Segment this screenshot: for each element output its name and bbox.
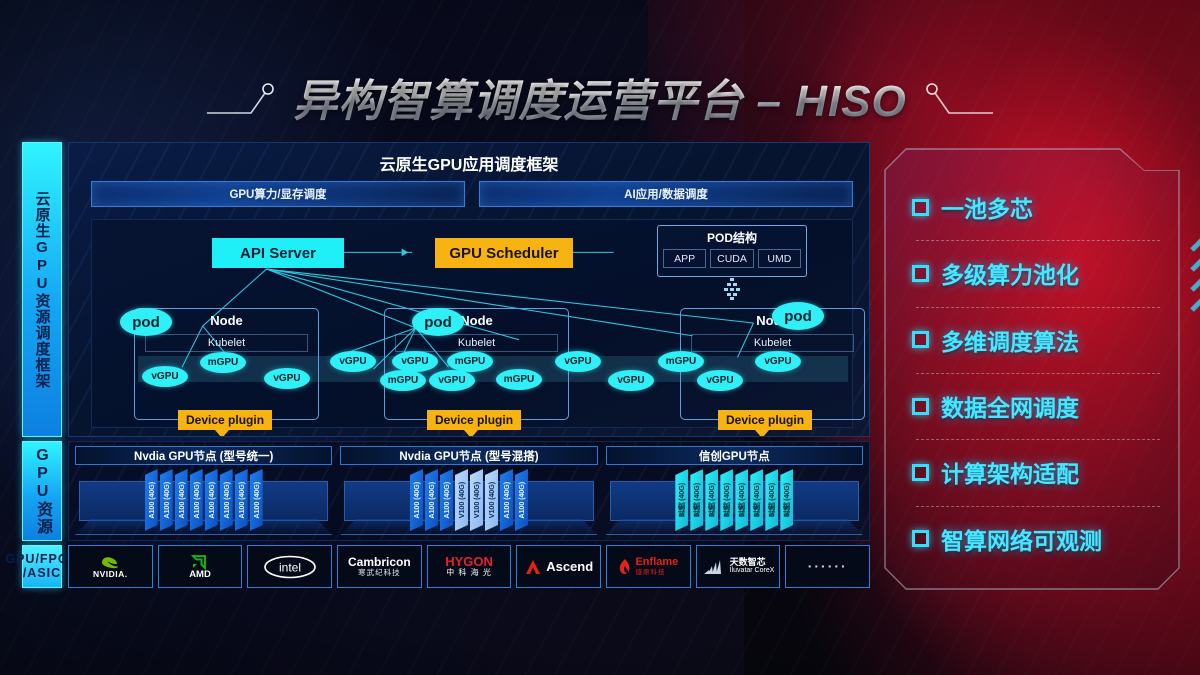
gpu-card-label: 昇腾 (40G)	[691, 483, 702, 517]
checkbox-square-icon	[912, 265, 929, 282]
gpu-card[interactable]: A100 (40G)	[250, 469, 263, 531]
gpu-card[interactable]: A100 (40G)	[500, 469, 513, 531]
vendor-ascend[interactable]: Ascend	[516, 545, 601, 588]
gpu-resource-panel: Nvdia GPU节点 (型号统一) A100 (40G) A100 (40G)…	[68, 441, 870, 541]
gpu-card[interactable]: A100 (40G)	[440, 469, 453, 531]
pod-cell-umd: UMD	[758, 249, 801, 268]
device-plugin-arrow-2	[464, 430, 478, 437]
vgpu-ellipse[interactable]: vGPU	[142, 366, 188, 387]
gpu-group-title: Nvdia GPU节点 (型号混搭)	[340, 446, 597, 465]
feature-item-6[interactable]: 智算网络可观测	[912, 506, 1166, 572]
gpu-card-label: A100 (40G)	[192, 482, 201, 519]
feature-label: 智算网络可观测	[941, 522, 1102, 556]
subbar-ai-app[interactable]: AI应用/数据调度	[479, 181, 853, 207]
gpu-card[interactable]: A100 (40G)	[410, 469, 423, 531]
vendor-name: 天数智芯	[730, 558, 766, 567]
mgpu-ellipse[interactable]: mGPU	[200, 352, 246, 373]
gpu-tray: A100 (40G) A100 (40G) A100 (40G) A100 (4…	[75, 469, 332, 535]
kubelet-bar: Kubelet	[145, 334, 308, 352]
gpu-card[interactable]: V100 (40G)	[485, 469, 498, 531]
intel-icon: intel	[263, 555, 317, 579]
gpu-card[interactable]: A100 (40G)	[190, 469, 203, 531]
device-plugin-3[interactable]: Device plugin	[718, 410, 812, 430]
gpu-tray: A100 (40G) A100 (40G) A100 (40G) V100 (4…	[340, 469, 597, 535]
gpu-card-label: V100 (40G)	[487, 482, 496, 518]
cloud-native-framework-panel: 云原生GPU应用调度框架 GPU算力/显存调度 AI应用/数据调度	[68, 142, 870, 437]
gpu-card-label: A100 (40G)	[517, 482, 526, 519]
vendor-cambricon[interactable]: Cambricon 寒武纪科技	[337, 545, 422, 588]
vendor-name: HYGON	[445, 555, 493, 569]
gpu-card-label: 昇腾 (40G)	[706, 483, 717, 517]
vgpu-ellipse[interactable]: vGPU	[697, 370, 743, 391]
gpu-card-label: A100 (40G)	[222, 482, 231, 519]
vendor-sub: 寒武纪科技	[358, 569, 401, 577]
gpu-card[interactable]: A100 (40G)	[235, 469, 248, 531]
vendor-sub: 燧原科技	[635, 569, 665, 576]
feature-item-1[interactable]: 一池多芯	[912, 174, 1166, 240]
vendor-name: Enflame	[635, 557, 678, 569]
architecture-diagram: 云原生GPU资源调度框架 GPU资源 GPU/FPGA /ASIC 云原生GPU…	[22, 142, 870, 604]
pod-structure-box: POD结构 APP CUDA UMD	[657, 225, 807, 277]
gpu-group-3: 信创GPU节点 昇腾 (40G) 昇腾 (40G) 昇腾 (40G) 昇腾 (4…	[606, 446, 863, 536]
vgpu-ellipse-outside[interactable]: vGPU	[608, 370, 654, 391]
diagram-main-column: 云原生GPU应用调度框架 GPU算力/显存调度 AI应用/数据调度	[62, 142, 870, 604]
feature-label: 多维调度算法	[941, 323, 1079, 357]
gpu-card-label: 昇腾 (40G)	[751, 483, 762, 517]
pod-cell-cuda: CUDA	[710, 249, 753, 268]
subbar-gpu-compute[interactable]: GPU算力/显存调度	[91, 181, 465, 207]
feature-label: 一池多芯	[941, 190, 1033, 224]
pod-ellipse-3[interactable]: pod	[772, 302, 824, 330]
gpu-card-list: A100 (40G) A100 (40G) A100 (40G) V100 (4…	[340, 469, 597, 531]
feature-label: 多级算力池化	[941, 256, 1079, 290]
gpu-group-title: Nvdia GPU节点 (型号统一)	[75, 446, 332, 465]
vendor-more[interactable]: ······	[785, 545, 870, 588]
vendor-hygon[interactable]: HYGON 中 科 海 光	[427, 545, 512, 588]
gpu-card[interactable]: V100 (40G)	[470, 469, 483, 531]
gpu-card-label: A100 (40G)	[502, 482, 511, 519]
vendor-row: Ascend	[524, 558, 593, 576]
vendor-amd[interactable]: AMD	[158, 545, 243, 588]
feature-item-3[interactable]: 多维调度算法	[912, 307, 1166, 373]
gpu-card[interactable]: 昇腾 (40G)	[750, 469, 763, 531]
gpu-card-label: A100 (40G)	[147, 482, 156, 519]
vendor-enflame[interactable]: Enflame 燧原科技	[606, 545, 691, 588]
vendor-row: Enflame 燧原科技	[618, 557, 678, 576]
gpu-card[interactable]: 昇腾 (40G)	[735, 469, 748, 531]
gpu-card[interactable]: A100 (40G)	[220, 469, 233, 531]
gpu-card-list: 昇腾 (40G) 昇腾 (40G) 昇腾 (40G) 昇腾 (40G) 昇腾 (…	[606, 469, 863, 531]
vgpu-ellipse-outside[interactable]: vGPU	[555, 351, 601, 372]
feature-list: 一池多芯 多级算力池化 多维调度算法 数据全网调度 计算架构适配 智算网络可观测	[912, 174, 1166, 572]
mgpu-ellipse[interactable]: mGPU	[658, 351, 704, 372]
vgpu-ellipse-outside[interactable]: vGPU	[330, 351, 376, 372]
checkbox-square-icon	[912, 199, 929, 216]
vertical-label-chips: GPU/FPGA /ASIC	[22, 545, 62, 588]
gpu-card-label: V100 (40G)	[457, 482, 466, 518]
gpu-card[interactable]: A100 (40G)	[175, 469, 188, 531]
gpu-card-label: 昇腾 (40G)	[736, 483, 747, 517]
mgpu-ellipse[interactable]: mGPU	[447, 351, 493, 372]
pod-structure-cells: APP CUDA UMD	[663, 249, 801, 268]
gpu-card-label: A100 (40G)	[207, 482, 216, 519]
gpu-card[interactable]: 昇腾 (40G)	[780, 469, 793, 531]
gpu-scheduler-box[interactable]: GPU Scheduler	[435, 238, 573, 268]
gpu-card-label: A100 (40G)	[237, 482, 246, 519]
gpu-card-label: V100 (40G)	[472, 482, 481, 518]
vendor-name: NVIDIA.	[93, 570, 128, 579]
feature-item-4[interactable]: 数据全网调度	[912, 373, 1166, 439]
gpu-group-title: 信创GPU节点	[606, 446, 863, 465]
vendor-logo-strip: NVIDIA. AMD intel Cambricon 寒武纪科技	[68, 545, 870, 588]
api-server-box[interactable]: API Server	[212, 238, 344, 268]
pod-ellipse-1[interactable]: pod	[120, 308, 172, 336]
iluvatar-icon	[702, 558, 726, 576]
kubelet-bar: Kubelet	[395, 334, 558, 352]
gpu-card[interactable]: 昇腾 (40G)	[720, 469, 733, 531]
feature-item-2[interactable]: 多级算力池化	[912, 240, 1166, 306]
feature-label: 计算架构适配	[941, 455, 1079, 489]
device-plugin-arrow-3	[755, 430, 769, 437]
vendor-name: ······	[808, 559, 848, 574]
vertical-label-gpu-resource: GPU资源	[22, 441, 62, 541]
gpu-card[interactable]: 昇腾 (40G)	[675, 469, 688, 531]
device-plugin-1[interactable]: Device plugin	[178, 410, 272, 430]
gpu-card[interactable]: A100 (40G)	[425, 469, 438, 531]
gpu-card[interactable]: 昇腾 (40G)	[765, 469, 778, 531]
vertical-label-column: 云原生GPU资源调度框架 GPU资源 GPU/FPGA /ASIC	[22, 142, 62, 604]
gpu-card-list: A100 (40G) A100 (40G) A100 (40G) A100 (4…	[75, 469, 332, 531]
vendor-row: 天数智芯 Iluvatar CoreX	[702, 558, 775, 576]
gpu-card[interactable]: A100 (40G)	[145, 469, 158, 531]
vendor-name: AMD	[189, 570, 211, 580]
gpu-card-label: 昇腾 (40G)	[781, 483, 792, 517]
pod-link-dots-icon	[722, 278, 742, 300]
amd-icon	[191, 554, 210, 570]
vgpu-ellipse[interactable]: vGPU	[429, 370, 475, 391]
pod-structure-title: POD结构	[663, 229, 801, 246]
gpu-card[interactable]: 昇腾 (40G)	[705, 469, 718, 531]
vendor-iluvatar[interactable]: 天数智芯 Iluvatar CoreX	[696, 545, 781, 588]
title-right-decoration	[923, 75, 993, 119]
gpu-card-label: 昇腾 (40G)	[676, 483, 687, 517]
pod-cell-app: APP	[663, 249, 706, 268]
vertical-label-framework: 云原生GPU资源调度框架	[22, 142, 62, 437]
device-plugin-2[interactable]: Device plugin	[427, 410, 521, 430]
kubelet-bar: Kubelet	[691, 334, 854, 352]
feature-item-5[interactable]: 计算架构适配	[912, 439, 1166, 505]
gpu-card[interactable]: A100 (40G)	[160, 469, 173, 531]
gpu-group-2: Nvdia GPU节点 (型号混搭) A100 (40G) A100 (40G)…	[340, 446, 597, 536]
gpu-card-label: A100 (40G)	[177, 482, 186, 519]
vgpu-ellipse[interactable]: vGPU	[392, 351, 438, 372]
gpu-card[interactable]: V100 (40G)	[455, 469, 468, 531]
gpu-card-label: A100 (40G)	[442, 482, 451, 519]
gpu-card[interactable]: A100 (40G)	[515, 469, 528, 531]
framework-inner-canvas: API Server GPU Scheduler POD结构 APP CUDA …	[91, 219, 853, 428]
framework-subbars: GPU算力/显存调度 AI应用/数据调度	[69, 181, 869, 207]
title-left-decoration	[207, 75, 277, 119]
framework-title: 云原生GPU应用调度框架	[69, 143, 869, 181]
checkbox-square-icon	[912, 530, 929, 547]
gpu-group-1: Nvdia GPU节点 (型号统一) A100 (40G) A100 (40G)…	[75, 446, 332, 536]
gpu-card-label: 昇腾 (40G)	[721, 483, 732, 517]
svg-text:intel: intel	[279, 560, 301, 574]
title-row: 异构智算调度运营平台 – HISO	[0, 62, 1200, 132]
gpu-card[interactable]: A100 (40G)	[205, 469, 218, 531]
vendor-nvidia[interactable]: NVIDIA.	[68, 545, 153, 588]
checkbox-square-icon	[912, 464, 929, 481]
mgpu-ellipse[interactable]: mGPU	[496, 369, 542, 390]
ascend-icon	[524, 558, 542, 576]
vendor-sub: Iluvatar CoreX	[730, 567, 775, 575]
vendor-name: Cambricon	[348, 556, 411, 569]
gpu-tray: 昇腾 (40G) 昇腾 (40G) 昇腾 (40G) 昇腾 (40G) 昇腾 (…	[606, 469, 863, 535]
gpu-card-label: A100 (40G)	[252, 482, 261, 519]
gpu-card-label: A100 (40G)	[427, 482, 436, 519]
feature-label: 数据全网调度	[941, 389, 1079, 423]
vgpu-ellipse[interactable]: vGPU	[755, 351, 801, 372]
mgpu-ellipse-outside[interactable]: mGPU	[380, 370, 426, 391]
vendor-sub: 中 科 海 光	[446, 569, 492, 578]
gpu-card[interactable]: 昇腾 (40G)	[690, 469, 703, 531]
panel-side-stripes	[1188, 230, 1200, 326]
page-title: 异构智算调度运营平台 – HISO	[293, 65, 907, 129]
vgpu-ellipse[interactable]: vGPU	[264, 368, 310, 389]
gpu-card-label: A100 (40G)	[162, 482, 171, 519]
gpu-card-label: A100 (40G)	[412, 482, 421, 519]
enflame-icon	[618, 558, 631, 576]
gpu-card-label: 昇腾 (40G)	[766, 483, 777, 517]
checkbox-square-icon	[912, 331, 929, 348]
device-plugin-arrow-1	[215, 430, 229, 437]
feature-panel: 一池多芯 多级算力池化 多维调度算法 数据全网调度 计算架构适配 智算网络可观测	[884, 148, 1180, 590]
pod-ellipse-2[interactable]: pod	[412, 308, 464, 336]
nvidia-icon	[99, 555, 121, 570]
checkbox-square-icon	[912, 398, 929, 415]
vendor-name: Ascend	[546, 560, 593, 574]
vendor-intel[interactable]: intel	[247, 545, 332, 588]
